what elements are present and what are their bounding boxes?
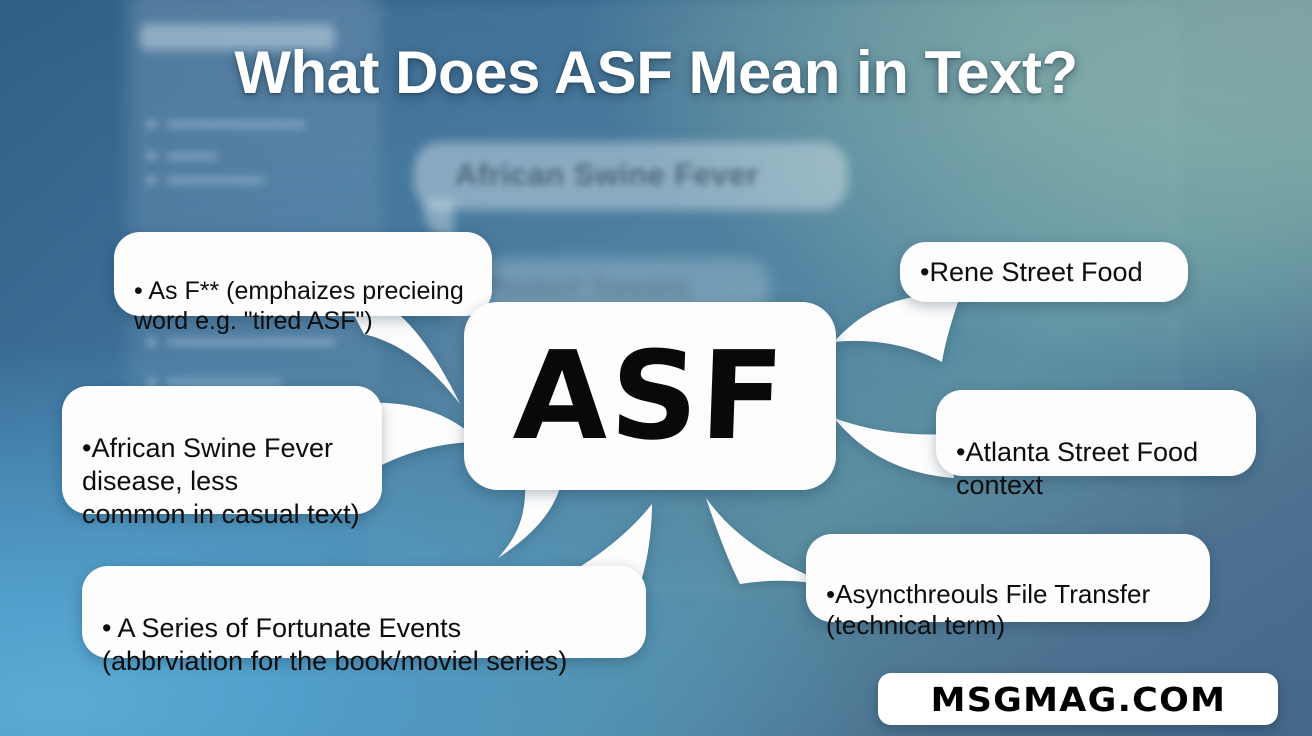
meaning-bubble-african-swine-fever[interactable]: •African Swine Fever disease, less commo… [62, 386, 382, 514]
page-title: What Does ASF Mean in Text? [0, 38, 1312, 107]
meaning-text-rene-street-food: •Rene Street Food [920, 256, 1143, 289]
meaning-bubble-rene-street-food[interactable]: •Rene Street Food [900, 242, 1188, 302]
center-term-text: ASF [512, 335, 788, 457]
site-logo[interactable]: MSGMAG.COM [878, 673, 1278, 725]
meaning-bubble-as-f[interactable]: • As F** (emphaizes precieing word e.g. … [114, 232, 492, 316]
center-term-bubble[interactable]: ASF [464, 302, 836, 490]
meaning-text-african-swine-fever: •African Swine Fever disease, less commo… [82, 433, 360, 529]
meaning-bubble-series-fortunate-events[interactable]: • A Series of Fortunate Events (abbrviat… [82, 566, 646, 658]
infographic-canvas: African Swine Fever Posted Sweets What D… [0, 0, 1312, 736]
meaning-bubble-async-file-transfer[interactable]: •Asyncthreouls File Transfer (technical … [806, 534, 1210, 622]
meaning-text-series-fortunate-events: • A Series of Fortunate Events (abbrviat… [102, 613, 567, 676]
site-logo-text: MSGMAG.COM [930, 680, 1226, 719]
meaning-bubble-atlanta-street-food[interactable]: •Atlanta Street Food context [936, 390, 1256, 476]
